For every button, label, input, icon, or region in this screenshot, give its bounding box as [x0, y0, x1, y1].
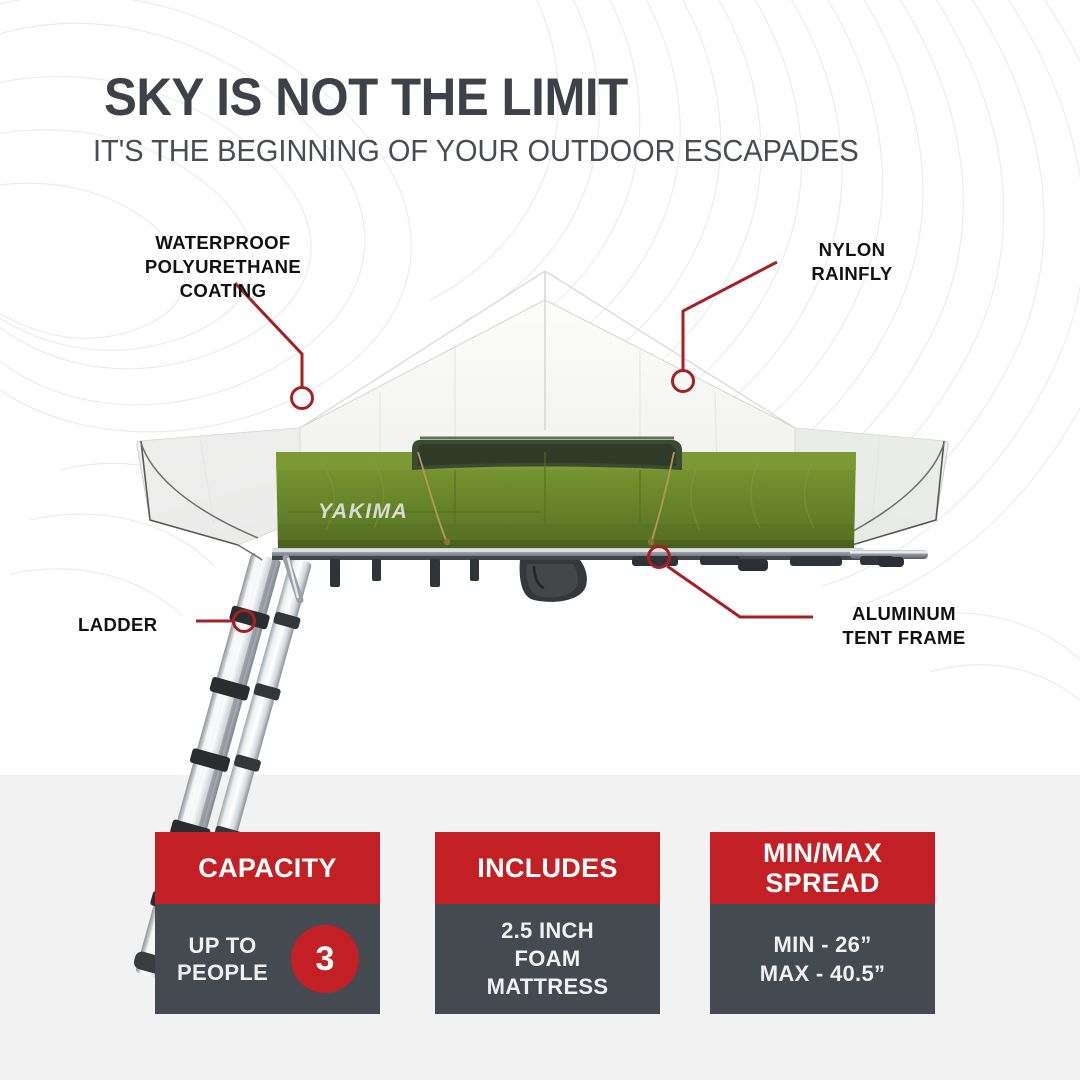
spec-card-capacity-title: CAPACITY: [198, 853, 336, 884]
callout-nylon-rainfly: NYLON RAINFLY: [752, 238, 952, 286]
callout-ladder: LADDER: [78, 613, 157, 637]
spec-card-includes: INCLUDES 2.5 INCH FOAM MATTRESS: [435, 832, 660, 1014]
spec-card-includes-text: 2.5 INCH FOAM MATTRESS: [487, 917, 609, 1001]
spec-card-includes-title: INCLUDES: [477, 853, 617, 884]
spec-card-includes-body: 2.5 INCH FOAM MATTRESS: [435, 904, 660, 1014]
infographic-canvas: YAKIMA: [0, 0, 1080, 1080]
spec-card-capacity: CAPACITY UP TO PEOPLE 3: [155, 832, 380, 1014]
spec-card-capacity-body: UP TO PEOPLE 3: [155, 904, 380, 1014]
spec-card-capacity-text: UP TO PEOPLE: [177, 932, 268, 986]
spec-card-capacity-header: CAPACITY: [155, 832, 380, 904]
spec-card-includes-header: INCLUDES: [435, 832, 660, 904]
spec-card-spread-header: MIN/MAX SPREAD: [710, 832, 935, 904]
callout-aluminum-tent-frame: ALUMINUM TENT FRAME: [824, 602, 984, 650]
callout-waterproof-coating: WATERPROOF POLYURETHANE COATING: [88, 231, 358, 303]
spec-card-min-max-spread: MIN/MAX SPREAD MIN - 26” MAX - 40.5”: [710, 832, 935, 1014]
capacity-count-badge: 3: [291, 925, 359, 993]
spec-card-spread-title: MIN/MAX SPREAD: [763, 838, 882, 898]
spec-card-spread-text: MIN - 26” MAX - 40.5”: [760, 930, 886, 988]
spec-card-spread-body: MIN - 26” MAX - 40.5”: [710, 904, 935, 1014]
